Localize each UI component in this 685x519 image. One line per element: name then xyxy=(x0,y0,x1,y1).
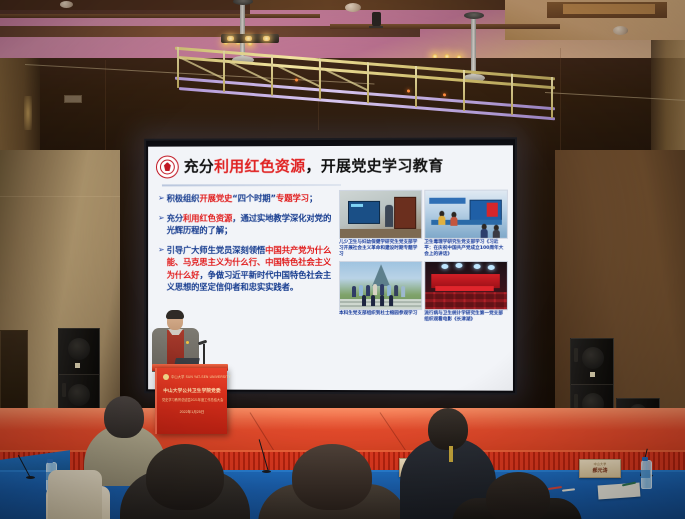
slide-photo-grid: 儿少卫生与妇幼保健学研究生党支部学习开展社会主义革命和建设时期专题学习 xyxy=(339,190,506,327)
slide-title-underline xyxy=(162,184,341,186)
side-wall-left-line xyxy=(0,196,120,197)
pa-left-top-cone xyxy=(68,338,90,360)
podium-logo: 中山大学 SUN YAT-SEN UNIVERSITY xyxy=(163,373,221,380)
slide-bullet-text-1: 积极组织开展党史“四个时期”专题学习； xyxy=(167,192,318,205)
slide-photo-cell-4: 流行病与卫生统计学研究生第一党支部组织观看电影《长津湖》 xyxy=(424,261,506,324)
pa-right-bottom-port xyxy=(574,394,578,408)
photo-caption-2: 卫生毒理学研究生党支部学习《习近平：在庆祝中国共产党成立100周年大会上的讲话》 xyxy=(424,239,506,258)
photo2-body-4 xyxy=(493,230,500,239)
photo2-body-3 xyxy=(481,229,488,238)
truss-post-3 xyxy=(319,58,321,99)
truss-post-1 xyxy=(223,51,225,92)
truss-indicator-3 xyxy=(443,93,446,96)
spotlight-2 xyxy=(245,36,252,41)
podium-banner-line-1: 中山大学公共卫生学院党委 xyxy=(162,388,222,394)
audience-4-head xyxy=(428,408,468,450)
pa-left-top-badge xyxy=(75,363,80,368)
water-bottle-right-cap xyxy=(642,457,648,461)
pa-right-top-port xyxy=(574,348,578,362)
pa-right-top-cone xyxy=(582,347,604,369)
photo4-banner xyxy=(435,286,493,291)
water-bottle-left-cap xyxy=(47,459,53,463)
stage-floor-sheen xyxy=(0,408,685,430)
pa-right-top-badge xyxy=(590,372,595,377)
audience-3-head xyxy=(292,444,372,510)
photo-classroom-lecture xyxy=(339,190,422,239)
spotlight-bar xyxy=(221,34,279,43)
podium: 中山大学 SUN YAT-SEN UNIVERSITY 中山大学公共卫生学院党委… xyxy=(155,368,227,434)
photo3-person-11 xyxy=(380,295,384,306)
truss-post-4 xyxy=(367,62,369,103)
truss-drop-pole-left xyxy=(240,0,245,60)
photo4-seat-row-1 xyxy=(425,294,507,299)
truss-post-7 xyxy=(511,74,513,115)
conference-hall-photo: 充分利用红色资源，开展党史学习教育 ➢积极组织开展党史“四个时期”专题学习；➢充… xyxy=(0,0,685,519)
photo-cinema-screening xyxy=(424,261,508,310)
photo2-banner xyxy=(429,198,465,204)
bullet-1-segment-5: ； xyxy=(309,193,317,203)
truss-pole-cap-right xyxy=(464,12,484,19)
photo3-person-12 xyxy=(389,295,393,306)
bullet-1-segment-1: 积极组织 xyxy=(167,193,200,203)
slide-bullet-3: ➢引导广大师生党员深刻领悟中国共产党为什么能、马克思主义为什么行、中国特色社会主… xyxy=(158,243,335,293)
truss-guy-wire-right xyxy=(545,92,685,101)
podium-banner-line-2: 党史学习教育总结暨2021年度工作总结大会 xyxy=(162,397,222,402)
slide-bullet-text-3: 引导广大师生党员深刻领悟中国共产党为什么能、马克思主义为什么行、中国特色社会主义… xyxy=(167,243,335,293)
photo4-light-3 xyxy=(474,264,481,269)
pa-speaker-left-top xyxy=(58,328,100,376)
audience-2-head xyxy=(146,444,224,510)
photo1-cabinet xyxy=(394,197,416,229)
slide-title-highlight: 利用红色资源 xyxy=(214,157,305,175)
photo2-body-2 xyxy=(450,217,457,226)
podium-banner-date: 2022年1月25日 xyxy=(162,410,222,415)
truss-post-5 xyxy=(415,66,417,107)
slide-photo-cell-1: 儿少卫生与妇幼保健学研究生党支部学习开展社会主义革命和建设时期专题学习 xyxy=(339,190,420,258)
truss-indicator-2 xyxy=(407,89,410,92)
truss-post-0 xyxy=(177,47,179,88)
slide-title-prefix: 充分 xyxy=(184,157,214,175)
bullet-1-segment-2: 开展党史 xyxy=(199,193,232,203)
slide-title-row: 充分利用红色资源，开展党史学习教育 xyxy=(156,152,505,179)
truss-post-2 xyxy=(271,54,273,95)
spotlight-3 xyxy=(263,36,270,41)
audience-4-lanyard xyxy=(449,446,453,462)
photo-caption-4: 流行病与卫生统计学研究生第一党支部组织观看电影《长津湖》 xyxy=(424,310,506,323)
photo4-light-2 xyxy=(455,263,462,268)
speaker-lapel-pin xyxy=(186,341,189,344)
photo4-light-4 xyxy=(488,265,495,270)
slide-title: 充分利用红色资源，开展党史学习教育 xyxy=(184,158,444,174)
slide-title-suffix: ，开展党史学习教育 xyxy=(305,156,443,174)
photo-caption-1: 儿少卫生与妇幼保健学研究生党支部学习开展社会主义革命和建设时期专题学习 xyxy=(339,239,420,258)
speaker-hair xyxy=(166,310,184,319)
university-crest-icon xyxy=(156,155,179,178)
photo-seminar-room xyxy=(424,190,508,239)
desk-mic-base-1 xyxy=(26,476,35,479)
name-placard-right: 中山大学 郝元涛 xyxy=(579,459,621,478)
ceiling-camera xyxy=(372,12,381,26)
photo1-monitor xyxy=(348,201,380,224)
slide-top-bar xyxy=(148,141,513,146)
spotlight-1 xyxy=(227,36,234,41)
podium-crest-icon xyxy=(163,374,169,380)
notepad-right xyxy=(598,483,641,500)
photo3-person-3 xyxy=(366,285,370,296)
audience-1-head xyxy=(104,396,144,438)
bullet-marker-icon: ➢ xyxy=(158,244,165,294)
photo-group-memorial xyxy=(339,261,422,310)
slide-bullet-1: ➢积极组织开展党史“四个时期”专题学习； xyxy=(158,192,335,205)
truss-post-6 xyxy=(463,70,465,111)
podium-logo-text: 中山大学 SUN YAT-SEN UNIVERSITY xyxy=(171,374,231,379)
bullet-2-segment-2: 利用红色资源 xyxy=(183,213,232,223)
audience-5-head xyxy=(486,472,550,519)
water-bottle-right-label xyxy=(641,470,650,478)
truss-post-8 xyxy=(551,77,553,118)
truss-indicator-1 xyxy=(295,78,298,81)
photo3-person-8 xyxy=(401,286,405,297)
slide-bullet-2: ➢充分利用红色资源，通过实地教学深化对党的光辉历程的了解； xyxy=(158,211,335,236)
photo4-seat-row-2 xyxy=(425,302,507,307)
bullet-3-segment-1: 引导广大师生党员深刻领悟 xyxy=(167,245,266,255)
bullet-marker-icon: ➢ xyxy=(158,212,165,237)
photo1-floor xyxy=(340,229,421,238)
truss-pole-cap-left xyxy=(233,0,253,5)
photo3-person-4 xyxy=(373,284,377,295)
photo3-person-5 xyxy=(380,284,384,295)
pa-left-bottom-port xyxy=(62,383,66,397)
pa-left-bottom-cone xyxy=(68,384,90,406)
bullet-1-segment-4: 专题学习 xyxy=(276,193,309,203)
ceiling-camera-arm xyxy=(369,26,383,28)
photo4-light-1 xyxy=(441,264,448,269)
slide-bullet-list: ➢积极组织开展党史“四个时期”专题学习；➢充分利用红色资源，通过实地教学深化对党… xyxy=(158,192,335,301)
lighting-truss-rig xyxy=(0,0,685,140)
truss-frame xyxy=(175,47,555,126)
chair-2 xyxy=(48,470,102,519)
bullet-2-segment-1: 充分 xyxy=(167,213,183,223)
photo3-person-7 xyxy=(394,285,398,296)
bullet-marker-icon: ➢ xyxy=(158,192,165,204)
truss-drop-pole-right xyxy=(471,14,476,78)
photo3-monument xyxy=(366,264,396,286)
slide-photo-cell-3: 本科生党支部组织到杜士榕园参观学习 xyxy=(339,261,420,323)
slide-photo-row-bottom: 本科生党支部组织到杜士榕园参观学习 xyxy=(339,261,506,324)
photo2-body-1 xyxy=(438,216,445,225)
photo3-person-9 xyxy=(362,295,366,306)
photo-caption-3: 本科生党支部组织到杜士榕园参观学习 xyxy=(339,310,420,317)
pa-speaker-right-top xyxy=(570,338,614,386)
photo3-person-10 xyxy=(371,295,375,306)
placard-right-name: 郝元涛 xyxy=(580,466,620,474)
photo2-screen xyxy=(470,200,502,221)
projection-screen: 充分利用红色资源，开展党史学习教育 ➢积极组织开展党史“四个时期”专题学习；➢充… xyxy=(144,137,517,394)
desk-mic-base-2 xyxy=(262,470,271,473)
slide-photo-cell-2: 卫生毒理学研究生党支部学习《习近平：在庆祝中国共产党成立100周年大会上的讲话》 xyxy=(424,190,506,259)
photo1-person xyxy=(385,205,393,227)
bullet-1-segment-3: “四个时期” xyxy=(232,193,276,203)
slide-photo-row-top: 儿少卫生与妇幼保健学研究生党支部学习开展社会主义革命和建设时期专题学习 xyxy=(339,190,506,259)
slide-bullet-text-2: 充分利用红色资源，通过实地教学深化对党的光辉历程的了解； xyxy=(167,211,335,236)
photo3-person-1 xyxy=(352,286,356,297)
